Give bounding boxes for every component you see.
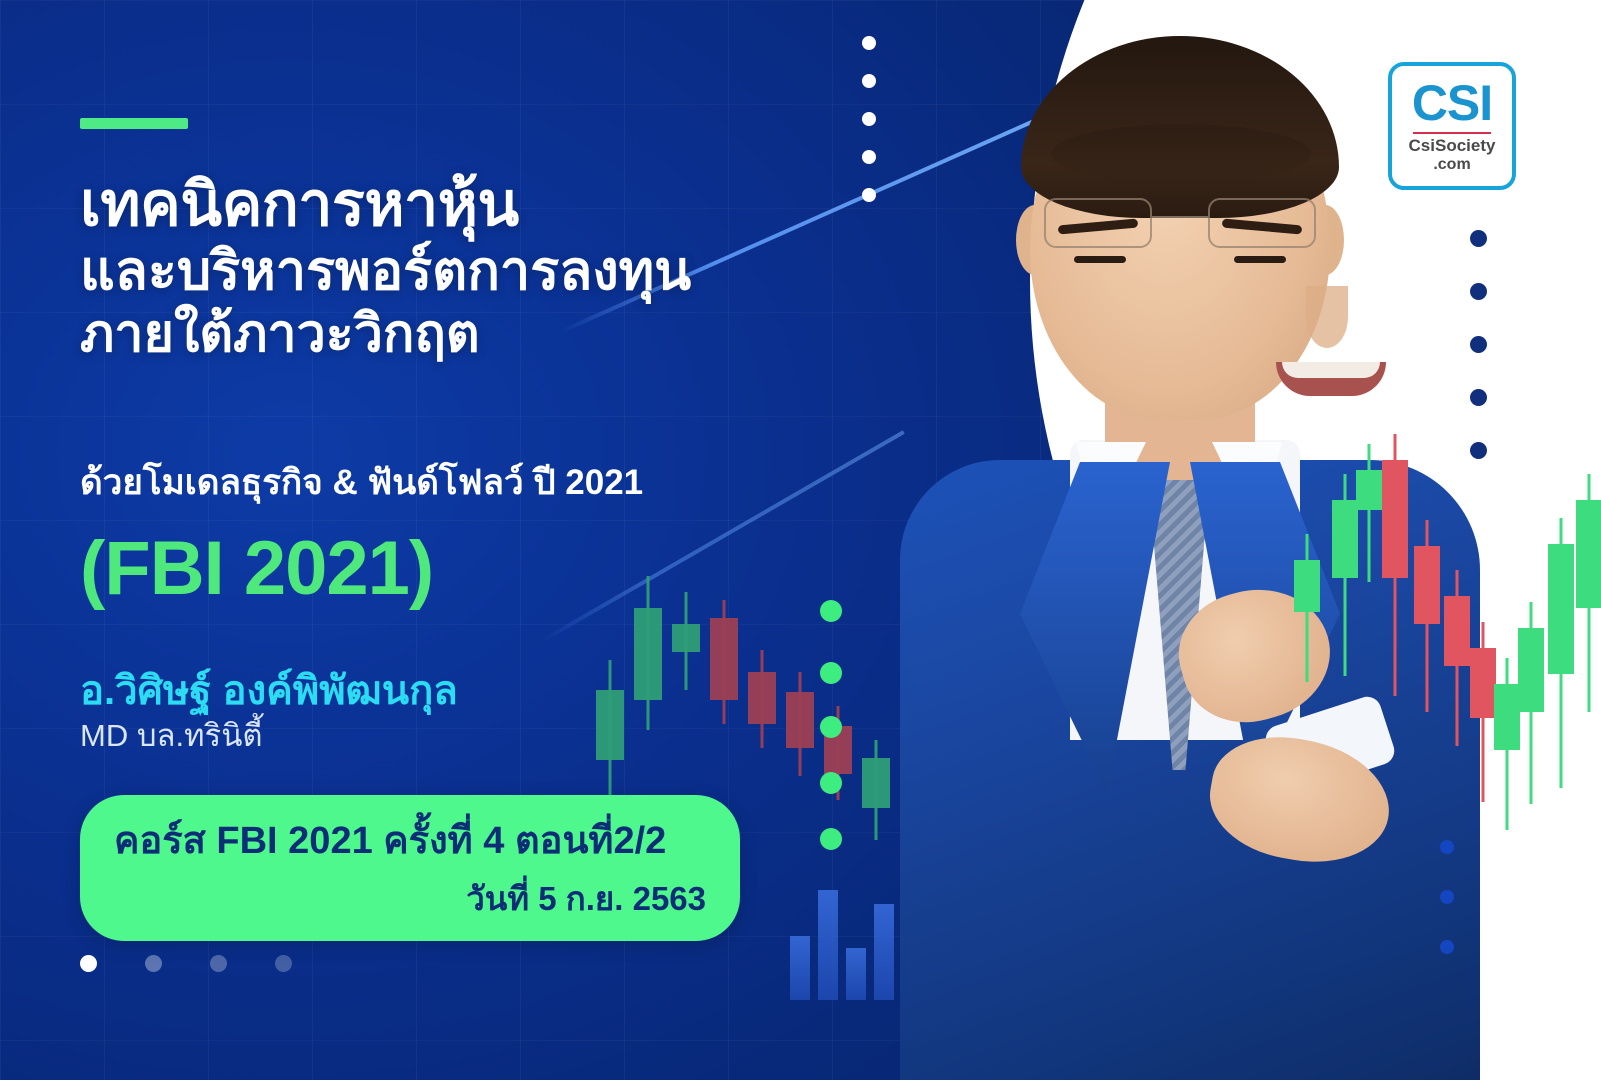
- subtitle: ด้วยโมเดลธุรกิจ & ฟันด์โฟลว์ ปี 2021: [80, 455, 880, 510]
- portrait-eye-left: [1074, 256, 1126, 263]
- glasses-lens-left: [1044, 198, 1152, 248]
- decor-dot: [1440, 940, 1454, 954]
- decor-dot: [1440, 840, 1454, 854]
- headline-line-2: และบริหารพอร์ตการลงทุน: [80, 243, 880, 301]
- session-badge-line-2: วันที่ 5 ก.ย. 2563: [114, 872, 706, 925]
- portrait-mouth: [1276, 362, 1386, 396]
- headline-line-1: เทคนิคการหาหุ้น: [80, 172, 880, 237]
- page-title: เทคนิคการหาหุ้น และบริหารพอร์ตการลงทุน ภ…: [80, 172, 880, 363]
- csi-logo[interactable]: CSI CsiSociety .com: [1388, 62, 1516, 190]
- decor-dot: [1470, 230, 1487, 247]
- promo-poster: เทคนิคการหาหุ้น และบริหารพอร์ตการลงทุน ภ…: [0, 0, 1601, 1080]
- decor-dot: [1470, 283, 1487, 300]
- csi-logo-society: CsiSociety: [1409, 137, 1496, 156]
- accent-dash: [80, 118, 188, 129]
- csi-logo-mark: CSI: [1412, 78, 1492, 128]
- decor-dot: [1470, 336, 1487, 353]
- portrait-glasses: [1030, 198, 1330, 250]
- portrait-hair: [1021, 36, 1339, 218]
- portrait-teeth: [1282, 362, 1380, 378]
- headline-line-3: ภายใต้ภาวะวิกฤต: [80, 307, 880, 363]
- portrait-nose: [1306, 286, 1348, 348]
- poster-content: เทคนิคการหาหุ้น และบริหารพอร์ตการลงทุน ภ…: [80, 0, 900, 1080]
- decor-dots-right-bottom: [1440, 840, 1454, 990]
- decor-dot: [1470, 389, 1487, 406]
- speaker-role: MD บล.ทรินิตี้: [80, 710, 263, 760]
- glasses-bridge: [1152, 216, 1208, 218]
- portrait-eye-right: [1234, 256, 1286, 263]
- glasses-lens-right: [1208, 198, 1316, 248]
- course-code: (FBI 2021): [80, 525, 433, 612]
- csi-logo-domain: .com: [1433, 156, 1470, 174]
- session-badge: คอร์ส FBI 2021 ครั้งที่ 4 ตอนที่2/2 วันท…: [80, 795, 740, 941]
- session-badge-line-1: คอร์ส FBI 2021 ครั้งที่ 4 ตอนที่2/2: [114, 809, 706, 870]
- decor-dots-right: [1470, 230, 1487, 495]
- csi-logo-rule: [1413, 132, 1491, 134]
- decor-dot: [1440, 890, 1454, 904]
- decor-dot: [1470, 442, 1487, 459]
